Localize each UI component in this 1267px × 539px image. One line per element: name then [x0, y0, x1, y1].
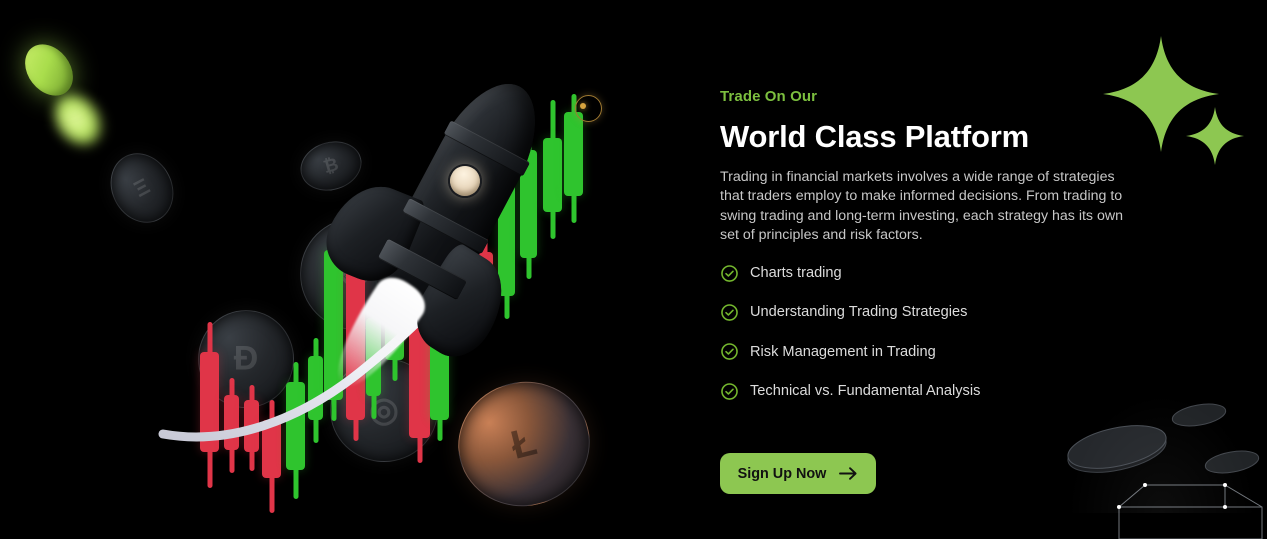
check-circle-icon	[720, 264, 739, 283]
sign-up-now-button[interactable]: Sign Up Now	[720, 453, 876, 494]
hero-description: Trading in financial markets involves a …	[720, 168, 1140, 246]
check-circle-icon	[720, 303, 739, 322]
list-item: Risk Management in Trading	[720, 342, 1140, 362]
list-item-label: Risk Management in Trading	[750, 344, 936, 360]
hero-section: Ξ ₿ ◈ Ð ◎	[0, 0, 1267, 539]
eyebrow-text: Trade On Our	[720, 88, 817, 105]
list-item-label: Understanding Trading Strategies	[750, 304, 967, 320]
circle-outline-icon	[575, 95, 602, 122]
check-circle-icon	[720, 342, 739, 361]
page-title: World Class Platform	[720, 119, 1029, 155]
check-circle-icon	[720, 382, 739, 401]
sign-up-now-label: Sign Up Now	[738, 466, 827, 482]
rocket-candlestick-chart-illustration: Ξ ₿ ◈ Ð ◎	[0, 0, 660, 539]
list-item: Charts trading	[720, 263, 1140, 283]
list-item-label: Technical vs. Fundamental Analysis	[750, 383, 980, 399]
list-item-label: Charts trading	[750, 265, 842, 281]
trajectory-curve	[0, 0, 660, 539]
list-item: Understanding Trading Strategies	[720, 302, 1140, 322]
arrow-right-icon	[839, 466, 858, 481]
pedestal-glow	[1067, 393, 1257, 513]
four-point-star-icon	[1186, 107, 1244, 165]
gold-dot-icon	[580, 103, 586, 109]
glass-box-icon	[1057, 389, 1267, 539]
